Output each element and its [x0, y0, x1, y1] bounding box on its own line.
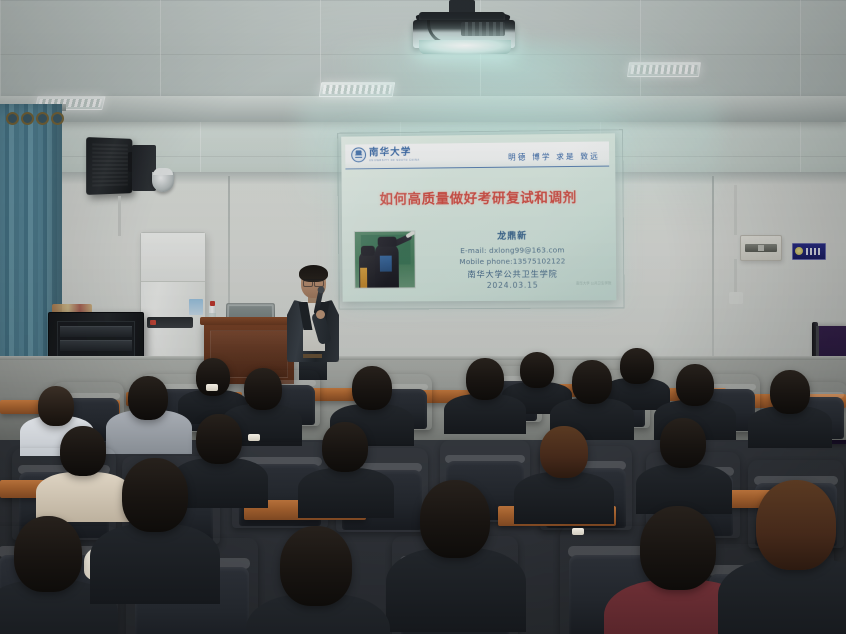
electrical-panel	[740, 235, 782, 261]
ceiling-beam	[0, 96, 846, 122]
ceiling-light-icon	[319, 82, 396, 97]
audience-member-head	[660, 418, 706, 468]
audience-member-body	[718, 558, 846, 634]
slide-title: 如何高质量做好考研复试和调剂	[342, 186, 616, 209]
audience-member-head	[420, 480, 490, 558]
wall-conduit	[734, 185, 737, 235]
graduation-photo	[354, 231, 416, 289]
audience-member-head	[244, 368, 282, 410]
wall-junction-box	[729, 292, 743, 304]
audience-member-body	[36, 472, 132, 522]
audience-member-head	[128, 376, 168, 420]
slide-header: 南华大学 UNIVERSITY OF SOUTH CHINA 明德 博学 求是 …	[345, 141, 609, 169]
audience-member-head	[620, 348, 654, 384]
audience-member-head	[676, 364, 714, 406]
presenter-name: 龙鼎新	[419, 228, 606, 243]
audience-member-head	[540, 426, 588, 478]
projector-lens-icon	[419, 40, 511, 54]
presenter-phone: Mobile phone:13575102122	[420, 255, 607, 267]
university-logo: 南华大学 UNIVERSITY OF SOUTH CHINA	[351, 147, 419, 163]
presenter-organization: 南华大学公共卫生学院	[420, 267, 607, 280]
ceiling-light-icon	[627, 62, 701, 77]
logo-english-name: UNIVERSITY OF SOUTH CHINA	[369, 158, 420, 162]
audience-member-head	[640, 506, 716, 590]
audience-member-head	[14, 516, 82, 592]
audience-member-body	[444, 394, 526, 434]
audience-member-head	[122, 458, 188, 532]
hair-clip	[572, 528, 584, 535]
audience-member-body	[514, 472, 614, 524]
audience-member-head	[572, 360, 612, 404]
lecture-hall-photo: 南华大学 UNIVERSITY OF SOUTH CHINA 明德 博学 求是 …	[0, 0, 846, 634]
wall-conduit	[734, 259, 737, 295]
audience-member-head	[322, 422, 368, 472]
audience-member-head	[196, 414, 242, 464]
audience-member-head	[38, 386, 74, 426]
audience-area	[0, 330, 846, 634]
audience-member-head	[520, 352, 554, 388]
audience-member-head	[280, 526, 352, 606]
audience-member-head	[352, 366, 392, 410]
wall-sign	[792, 243, 826, 260]
projection-screen: 南华大学 UNIVERSITY OF SOUTH CHINA 明德 博学 求是 …	[341, 133, 616, 301]
logo-chinese-name: 南华大学	[369, 147, 420, 158]
glasses-icon	[303, 279, 324, 285]
audience-member-head	[770, 370, 810, 414]
audience-member-body	[298, 468, 394, 518]
audience-member-head	[756, 480, 836, 570]
presentation-slide: 南华大学 UNIVERSITY OF SOUTH CHINA 明德 博学 求是 …	[341, 133, 616, 301]
hair-clip	[206, 384, 218, 391]
university-emblem-icon	[351, 147, 366, 162]
university-motto: 明德 博学 求是 致远	[508, 151, 600, 163]
audience-member-head	[466, 358, 504, 400]
ceiling-projector	[405, 0, 523, 56]
audience-member-body	[386, 548, 526, 632]
audience-member-body	[90, 524, 220, 604]
audience-member-head	[60, 426, 106, 476]
hair-clip	[248, 434, 260, 441]
ac-pipe	[118, 196, 121, 236]
slide-watermark: 南华大学 公共卫生学院	[576, 281, 611, 286]
wall-speaker	[86, 137, 132, 195]
